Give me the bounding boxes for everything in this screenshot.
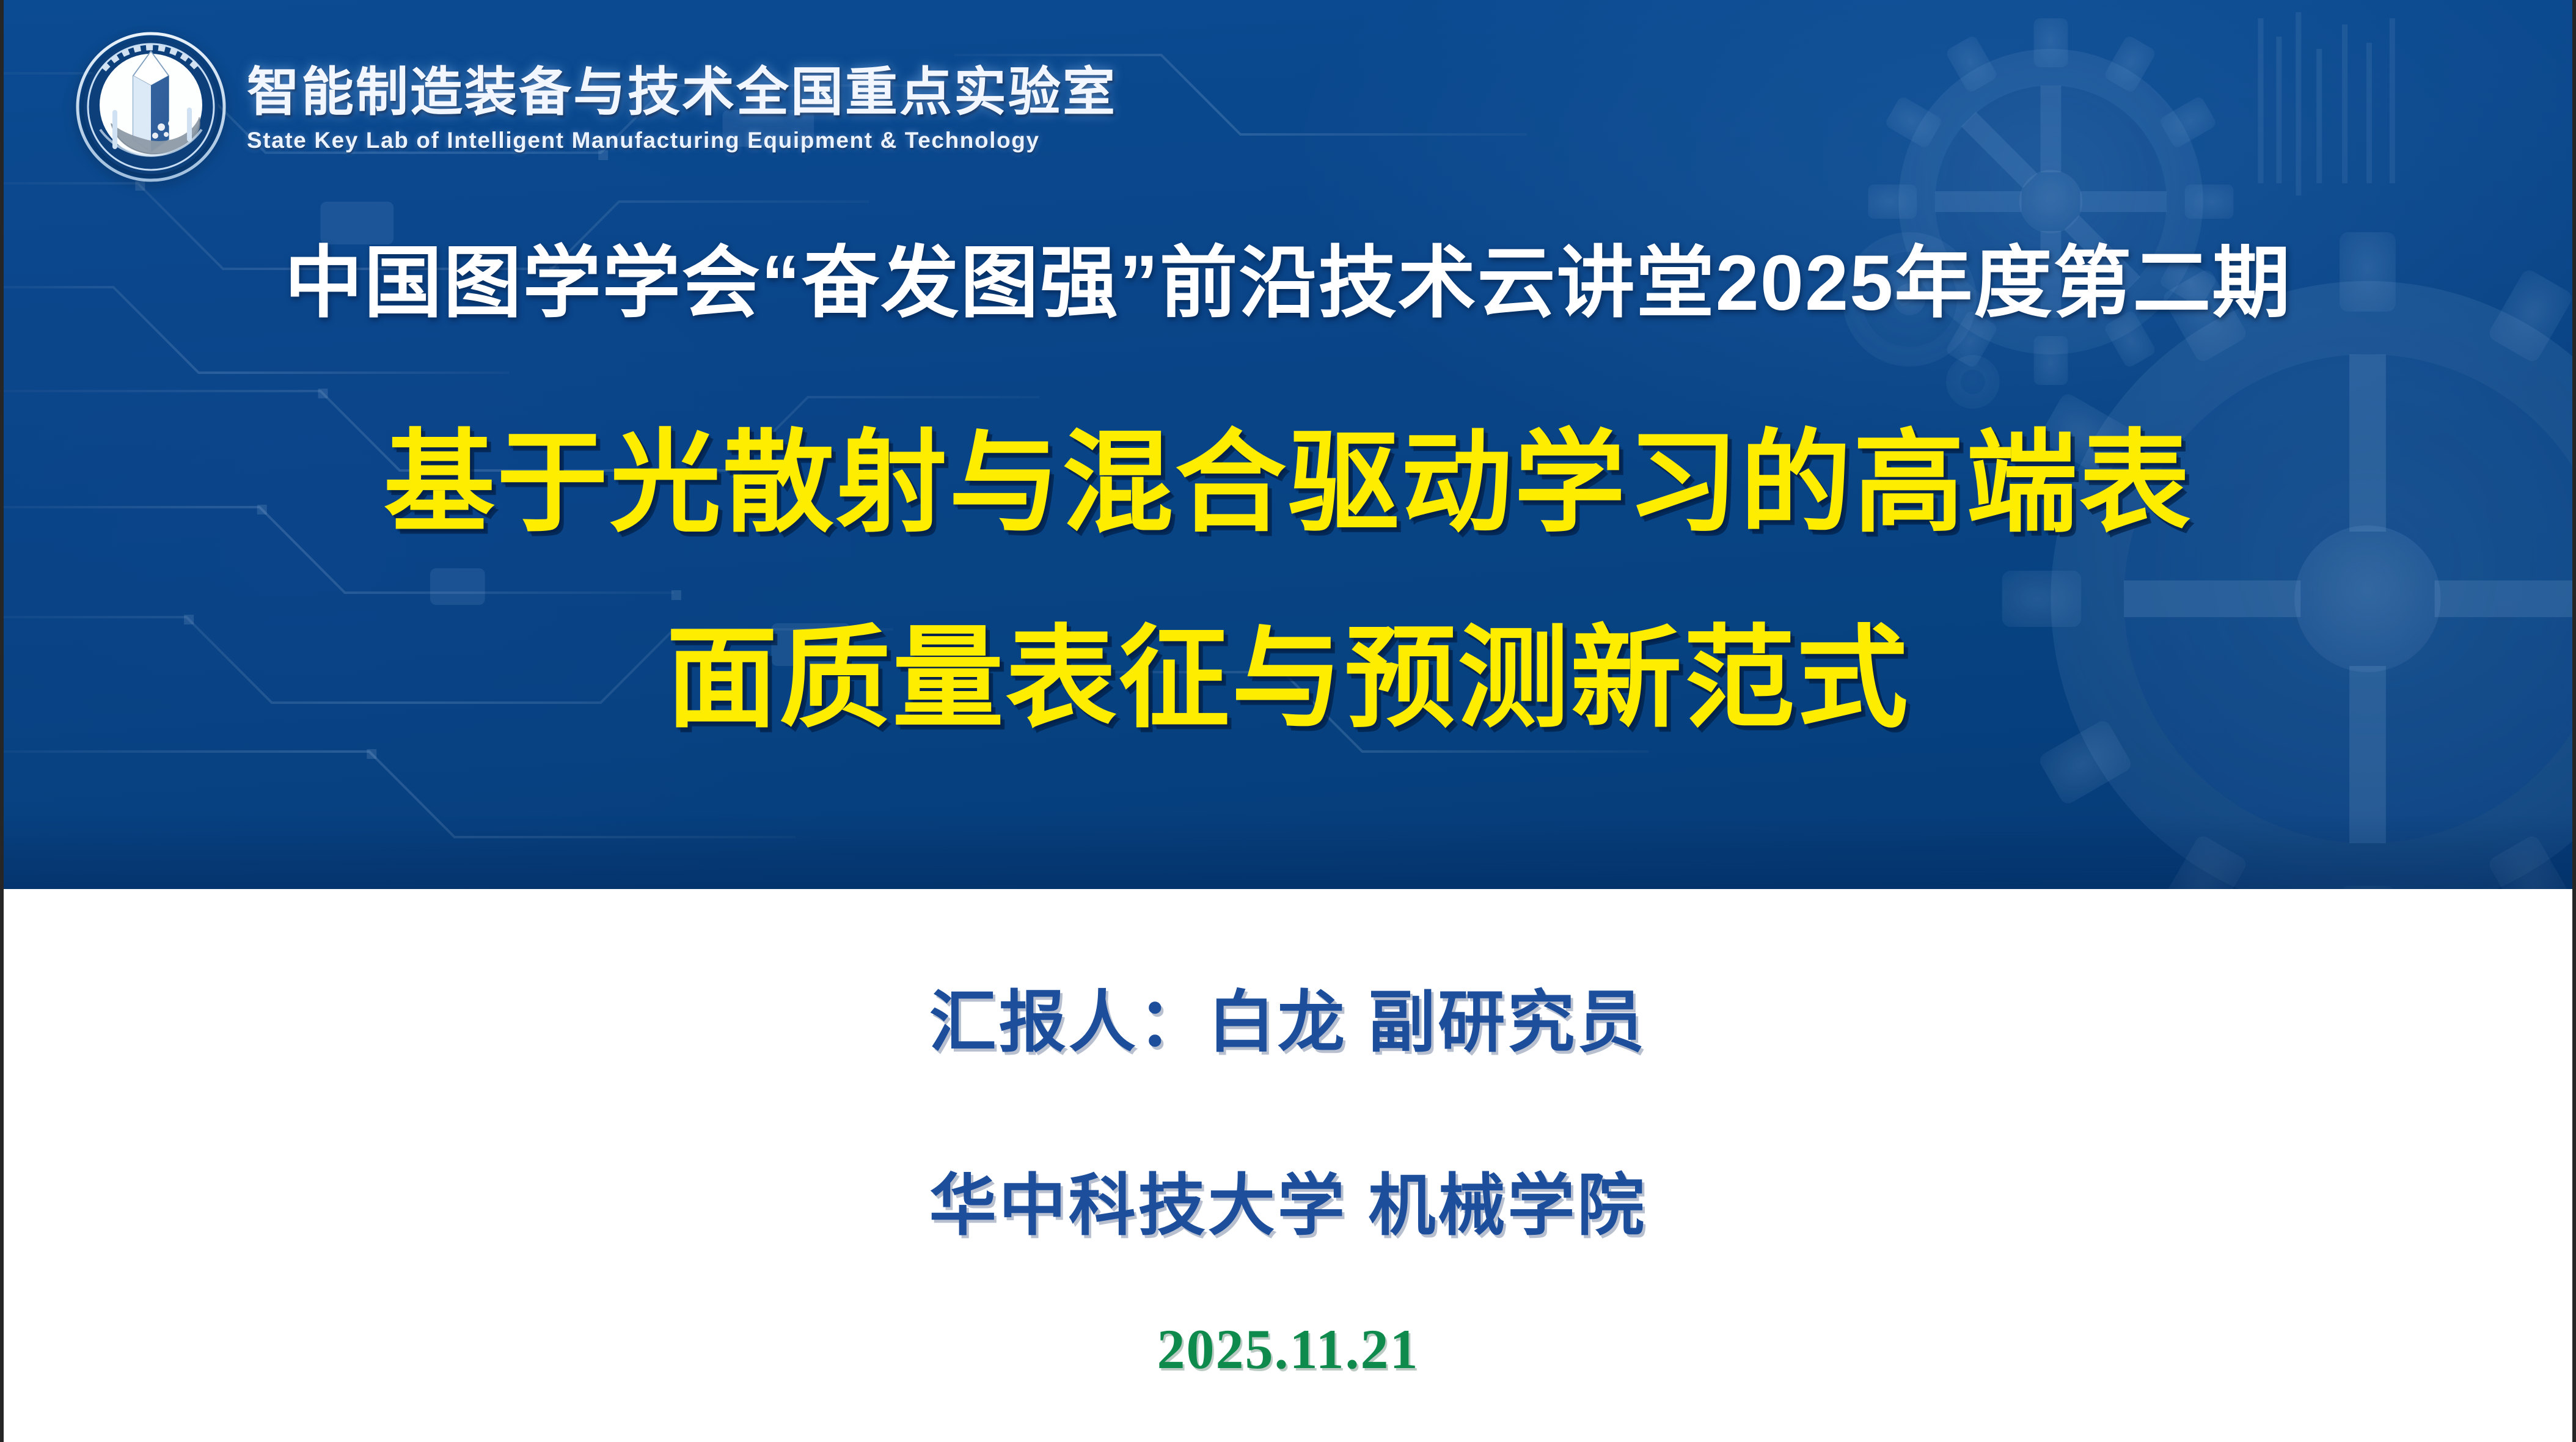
title-banner: 智能制造装备与技术全国重点实验室 State Key Lab of Intell… (4, 0, 2572, 889)
lab-name-english: State Key Lab of Intelligent Manufacturi… (247, 126, 1117, 155)
slide-title-line-2: 面质量表征与预测新范式 (4, 617, 2572, 739)
lab-logo-lockup: 智能制造装备与技术全国重点实验室 State Key Lab of Intell… (76, 32, 1117, 182)
lab-name-chinese: 智能制造装备与技术全国重点实验室 (247, 65, 1117, 120)
presentation-date: 2025.11.21 (4, 1317, 2572, 1382)
affiliation-line: 华中科技大学 机械学院 (4, 1151, 2572, 1248)
lab-name-block: 智能制造装备与技术全国重点实验室 State Key Lab of Intell… (247, 59, 1117, 155)
presentation-title-slide: 智能制造装备与技术全国重点实验室 State Key Lab of Intell… (0, 0, 2576, 1442)
state-key-lab-emblem-icon (76, 32, 226, 182)
slide-title-line-1: 基于光散射与混合驱动学习的高端表 (4, 422, 2572, 544)
presenter-name-line: 汇报人：白龙 副研究员 (4, 967, 2572, 1065)
lecture-series-line: 中国图学学会“奋发图强”前沿技术云讲堂2025年度第二期 (4, 238, 2572, 328)
presenter-footer: 汇报人：白龙 副研究员 华中科技大学 机械学院 2025.11.21 (4, 889, 2572, 1442)
